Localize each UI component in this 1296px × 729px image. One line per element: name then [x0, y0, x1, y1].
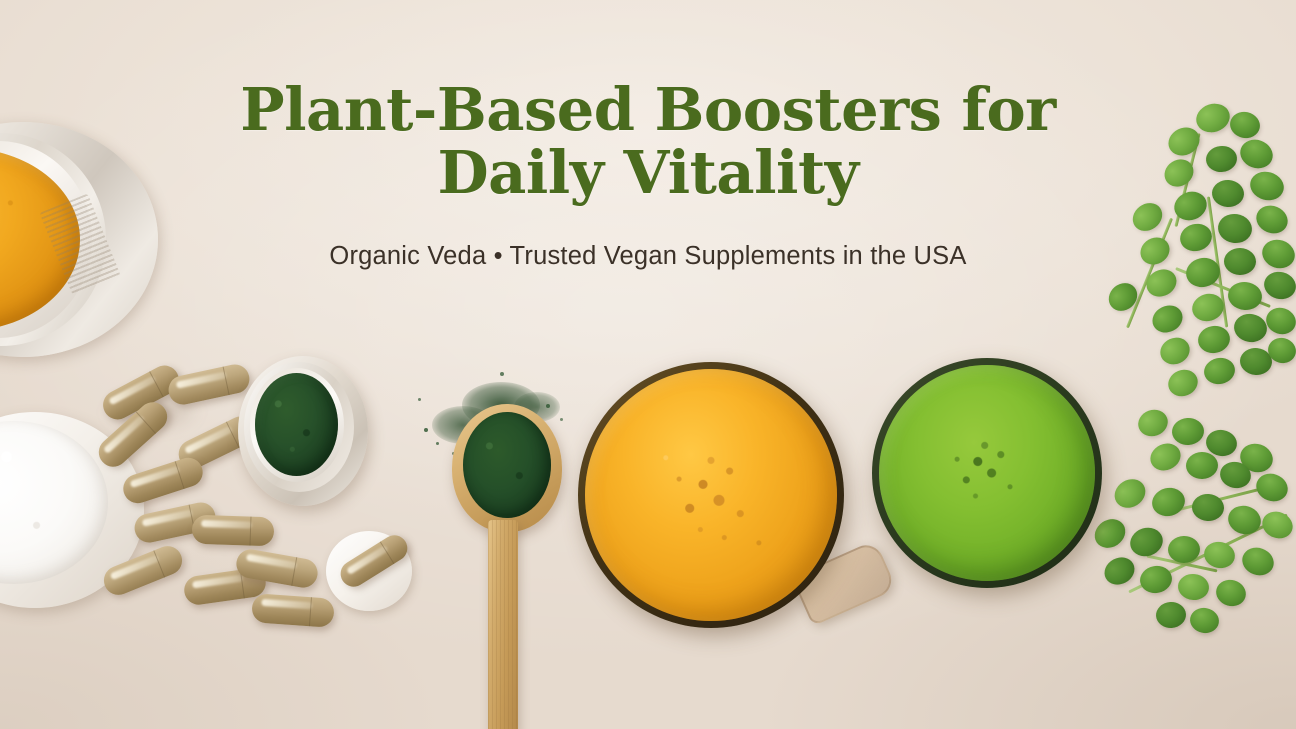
page-title: Plant-Based Boosters for Daily Vitality: [0, 78, 1296, 204]
spirulina-speck: [418, 398, 421, 401]
capsule: [192, 515, 275, 547]
capsule: [251, 593, 335, 628]
banner-copy: Plant-Based Boosters for Daily Vitality …: [0, 78, 1296, 271]
spirulina-speck: [436, 442, 439, 445]
spoon-spirulina-powder: [463, 412, 551, 518]
turmeric-latte-mug: [578, 362, 844, 628]
headline-line-2: Daily Vitality: [170, 141, 1126, 204]
latte-foam-bubbles: [578, 362, 844, 628]
smoothie-foam-bubbles: [872, 358, 1102, 588]
spoon-handle: [488, 520, 518, 729]
promo-banner: Plant-Based Boosters for Daily Vitality …: [0, 0, 1296, 729]
spirulina-speck: [424, 428, 428, 432]
spirulina-powder: [255, 373, 338, 476]
bamboo-spoon: [452, 404, 562, 729]
spirulina-jar: [238, 356, 368, 506]
headline-line-1: Plant-Based Boosters for: [240, 75, 1056, 144]
green-smoothie-glass: [872, 358, 1102, 588]
spirulina-speck: [500, 372, 504, 376]
banner-subtitle: Organic Veda • Trusted Vegan Supplements…: [0, 242, 1296, 271]
